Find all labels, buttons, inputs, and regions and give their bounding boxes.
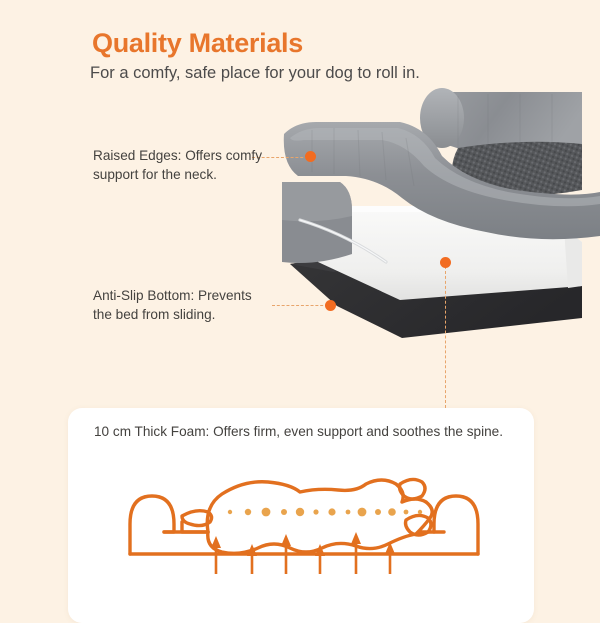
left-bolster-outline — [130, 496, 174, 554]
page-title: Quality Materials — [92, 28, 303, 59]
foam-support-diagram — [104, 462, 504, 582]
right-bolster-outline — [434, 496, 478, 554]
page-subtitle: For a comfy, safe place for your dog to … — [90, 64, 420, 83]
dog-back-contour — [207, 480, 426, 532]
callout-anti-slip-line2: the bed from sliding. — [93, 305, 278, 324]
leader-line-anti-slip — [272, 305, 328, 306]
dog-bed-illustration — [282, 86, 600, 376]
marker-dot-anti-slip — [325, 300, 336, 311]
callout-raised-edges: Raised Edges: Offers comfy support for t… — [93, 146, 268, 185]
product-photo — [282, 86, 600, 376]
callout-raised-edges-line1: Raised Edges: Offers comfy — [93, 146, 268, 165]
marker-dot-raised-edges — [305, 151, 316, 162]
foam-info-text: 10 cm Thick Foam: Offers firm, even supp… — [94, 424, 503, 439]
callout-raised-edges-line2: support for the neck. — [93, 165, 268, 184]
callout-anti-slip: Anti-Slip Bottom: Prevents the bed from … — [93, 286, 278, 325]
infographic-root: Quality Materials For a comfy, safe plac… — [0, 0, 600, 600]
support-arrow — [385, 542, 395, 574]
leader-line-foam-vertical — [445, 266, 446, 408]
spine-dot-line — [228, 508, 422, 517]
dog-paw-upper — [400, 479, 426, 499]
marker-dot-foam — [440, 257, 451, 268]
dog-on-bed-line-art — [104, 462, 504, 582]
callout-anti-slip-line1: Anti-Slip Bottom: Prevents — [93, 286, 278, 305]
left-bolster-block-highlight — [282, 182, 352, 221]
dog-belly-contour — [208, 532, 416, 553]
